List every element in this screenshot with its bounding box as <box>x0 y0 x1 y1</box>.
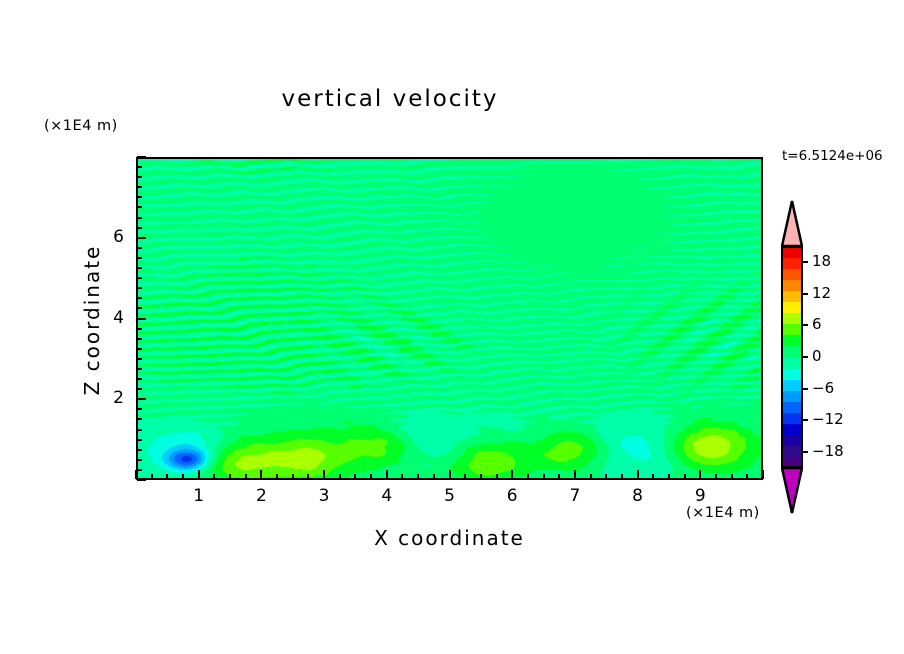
colorbar-tick-label: 0 <box>812 347 822 365</box>
x-axis-tick <box>699 470 701 479</box>
y-axis-tick <box>137 307 142 309</box>
y-axis-tick <box>137 156 146 158</box>
y-axis-tick <box>137 328 142 330</box>
x-axis-tick <box>166 474 168 479</box>
x-axis-tick <box>354 474 356 479</box>
y-axis-tick <box>137 449 142 451</box>
x-axis-tick-label: 8 <box>618 486 658 506</box>
colorbar-tick-label: 18 <box>812 252 831 270</box>
y-axis-tick <box>137 469 142 471</box>
x-axis-tick <box>480 474 482 479</box>
x-axis-tick <box>605 474 607 479</box>
x-axis-tick <box>386 470 388 479</box>
colorbar-band <box>781 290 803 302</box>
colorbar-tick <box>803 356 808 358</box>
x-axis-tick <box>762 470 764 479</box>
colorbar-tick <box>803 451 808 453</box>
y-axis-tick <box>137 408 142 410</box>
colorbar-band <box>781 313 803 325</box>
x-axis-tick <box>731 474 733 479</box>
colorbar-band <box>781 446 803 458</box>
y-axis-tick <box>137 459 142 461</box>
colorbar-band <box>781 357 803 369</box>
y-axis-tick <box>137 418 142 420</box>
x-axis-tick <box>668 474 670 479</box>
y-axis-tick <box>137 166 142 168</box>
x-axis-tick-label: 9 <box>680 486 720 506</box>
y-axis-tick <box>137 388 142 390</box>
y-axis-tick <box>137 237 146 239</box>
y-axis-tick <box>137 429 142 431</box>
x-axis-tick <box>464 474 466 479</box>
colorbar-under-range-arrow <box>781 468 803 514</box>
x-axis-tick <box>417 474 419 479</box>
colorbar-tick-label: 12 <box>812 284 831 302</box>
x-axis-tick <box>401 474 403 479</box>
x-axis-tick <box>339 474 341 479</box>
y-axis-tick <box>137 277 142 279</box>
x-axis-tick-label: 2 <box>241 486 281 506</box>
x-axis-tick-label: 1 <box>179 486 219 506</box>
x-axis-tick <box>198 470 200 479</box>
x-axis-tick <box>715 474 717 479</box>
colorbar-tick <box>803 261 808 263</box>
x-axis-title: X coordinate <box>136 526 763 550</box>
colorbar-band <box>781 302 803 314</box>
colorbar-band <box>781 346 803 358</box>
x-axis-tick <box>652 474 654 479</box>
x-axis-tick-label: 6 <box>492 486 532 506</box>
x-axis-tick <box>684 474 686 479</box>
y-axis-tick <box>137 217 142 219</box>
x-axis-tick <box>558 474 560 479</box>
x-axis-tick <box>433 474 435 479</box>
y-axis-tick <box>137 358 142 360</box>
x-axis-tick <box>527 474 529 479</box>
y-axis-tick <box>137 368 142 370</box>
y-axis-tick <box>137 186 142 188</box>
x-axis-tick <box>621 474 623 479</box>
x-axis-tick-label: 5 <box>430 486 470 506</box>
colorbar-band <box>781 390 803 402</box>
x-axis-tick <box>229 474 231 479</box>
y-axis-tick <box>137 439 142 441</box>
colorbar-tick-label: −18 <box>812 442 844 460</box>
y-axis-tick <box>137 267 142 269</box>
y-axis-tick <box>137 318 146 320</box>
x-axis-tick <box>746 474 748 479</box>
y-axis-tick-label: 4 <box>84 308 124 328</box>
x-axis-tick <box>260 470 262 479</box>
y-axis-tick <box>137 378 142 380</box>
colorbar-band <box>781 413 803 425</box>
colorbar-band <box>781 435 803 447</box>
colorbar-band <box>781 268 803 280</box>
y-axis-tick <box>137 176 142 178</box>
y-axis-tick-label: 2 <box>84 388 124 408</box>
x-axis-tick <box>245 474 247 479</box>
colorbar-band <box>781 257 803 269</box>
colorbar <box>781 246 803 468</box>
x-axis-tick <box>323 470 325 479</box>
colorbar-band <box>781 279 803 291</box>
colorbar-band <box>781 379 803 391</box>
x-axis-tick <box>292 474 294 479</box>
x-axis-tick-label: 3 <box>304 486 344 506</box>
colorbar-tick <box>803 324 808 326</box>
y-axis-tick <box>137 297 142 299</box>
time-annotation: t=6.5124e+06 <box>782 148 883 164</box>
x-axis-tick <box>449 470 451 479</box>
y-axis-tick <box>137 348 142 350</box>
y-axis-tick <box>137 206 142 208</box>
x-axis-tick <box>151 474 153 479</box>
x-axis-tick <box>307 474 309 479</box>
x-axis-tick <box>135 470 137 479</box>
x-axis-tick <box>574 470 576 479</box>
x-axis-tick <box>590 474 592 479</box>
colorbar-band <box>781 401 803 413</box>
y-axis-unit-label: (×1E4 m) <box>44 118 118 134</box>
x-axis-tick <box>276 474 278 479</box>
velocity-field-heatmap <box>138 159 763 480</box>
colorbar-band <box>781 324 803 336</box>
x-axis-tick <box>496 474 498 479</box>
colorbar-tick <box>803 293 808 295</box>
x-axis-tick <box>511 470 513 479</box>
x-axis-tick-label: 4 <box>367 486 407 506</box>
contour-plot-area <box>136 157 763 480</box>
colorbar-tick-label: −12 <box>812 410 844 428</box>
y-axis-tick <box>137 247 142 249</box>
colorbar-band <box>781 457 803 469</box>
x-axis-tick <box>182 474 184 479</box>
x-axis-unit-label: (×1E4 m) <box>686 505 760 521</box>
colorbar-over-range-arrow <box>781 200 803 246</box>
y-axis-tick <box>137 338 142 340</box>
colorbar-band <box>781 368 803 380</box>
colorbar-tick <box>803 388 808 390</box>
page-title: vertical velocity <box>0 86 780 112</box>
colorbar-tick-label: 6 <box>812 315 822 333</box>
y-axis-tick-label: 6 <box>84 227 124 247</box>
x-axis-tick <box>370 474 372 479</box>
y-axis-tick <box>137 287 142 289</box>
y-axis-tick <box>137 398 146 400</box>
colorbar-band <box>781 246 803 258</box>
y-axis-tick <box>137 196 142 198</box>
y-axis-tick <box>137 227 142 229</box>
x-axis-tick <box>637 470 639 479</box>
y-axis-tick <box>137 479 146 481</box>
colorbar-tick <box>803 419 808 421</box>
x-axis-tick <box>213 474 215 479</box>
x-axis-tick-label: 7 <box>555 486 595 506</box>
x-axis-tick <box>543 474 545 479</box>
y-axis-tick <box>137 257 142 259</box>
colorbar-band <box>781 335 803 347</box>
colorbar-tick-label: −6 <box>812 379 834 397</box>
colorbar-band <box>781 424 803 436</box>
